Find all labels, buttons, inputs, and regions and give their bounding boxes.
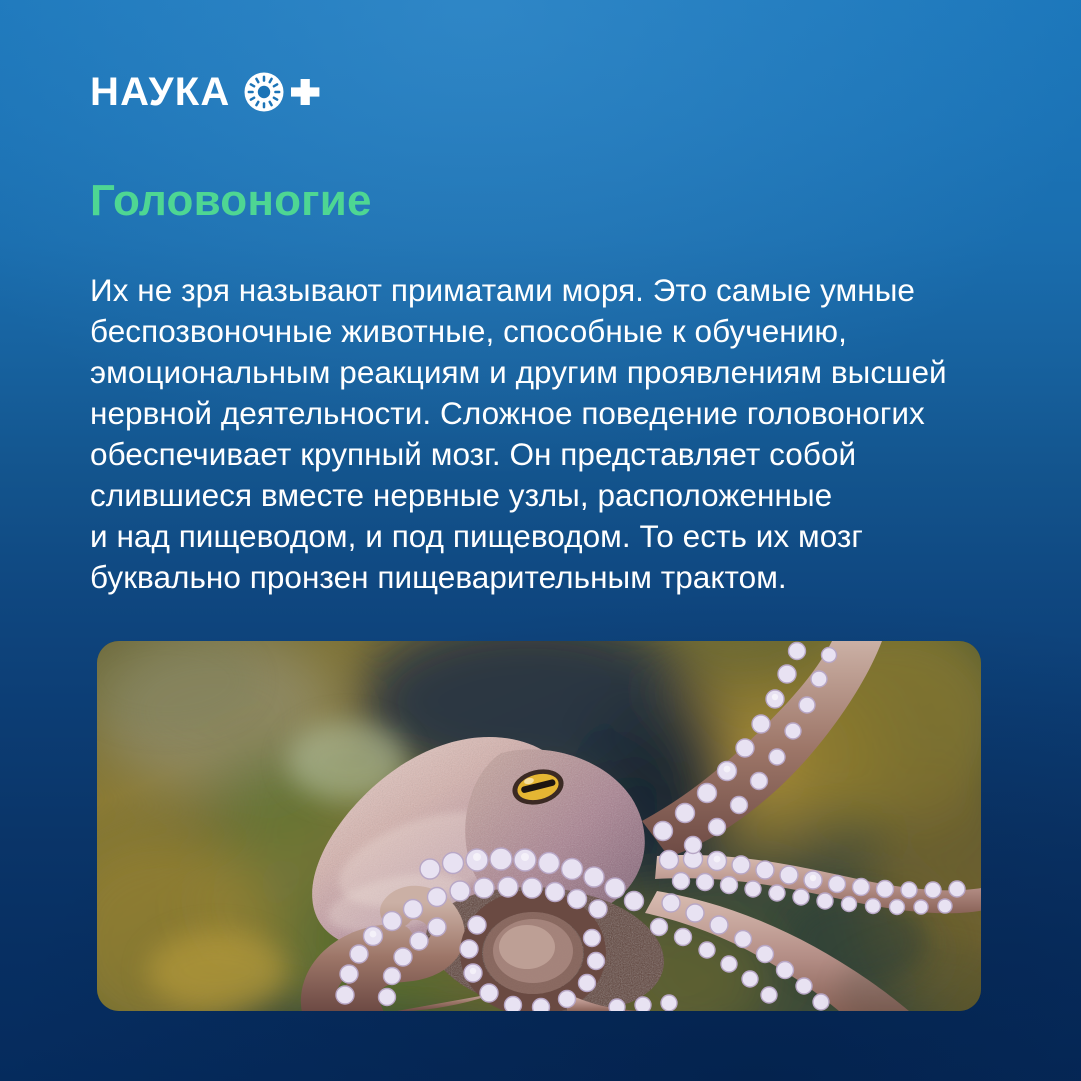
body-line: Их не зря называют приматами моря. Это с… (90, 270, 980, 311)
body-line: беспозвоночные животные, способные к обу… (90, 311, 980, 352)
plus-icon (288, 73, 322, 111)
octopus-photo (97, 641, 981, 1011)
brand-name: НАУКА (90, 72, 230, 112)
slide-card: НАУКА (0, 0, 1081, 1081)
brand-logo[interactable]: НАУКА (90, 72, 322, 112)
body-line: эмоциональным реакциям и другим проявлен… (90, 352, 980, 393)
body-line: буквально пронзен пищеварительным тракто… (90, 557, 980, 598)
page-title: Головоногие (90, 176, 372, 225)
body-line: нервной деятельности. Сложное поведение … (90, 393, 980, 434)
body-line: и над пищеводом, и под пищеводом. То ест… (90, 516, 980, 557)
body-line: обеспечивает крупный мозг. Он представля… (90, 434, 980, 475)
body-line: слившиеся вместе нервные узлы, расположе… (90, 475, 980, 516)
octopus-illustration (97, 641, 981, 1011)
brand-mark (244, 72, 322, 112)
sun-burst-icon (244, 72, 284, 112)
body-text: Их не зря называют приматами моря. Это с… (90, 270, 980, 598)
